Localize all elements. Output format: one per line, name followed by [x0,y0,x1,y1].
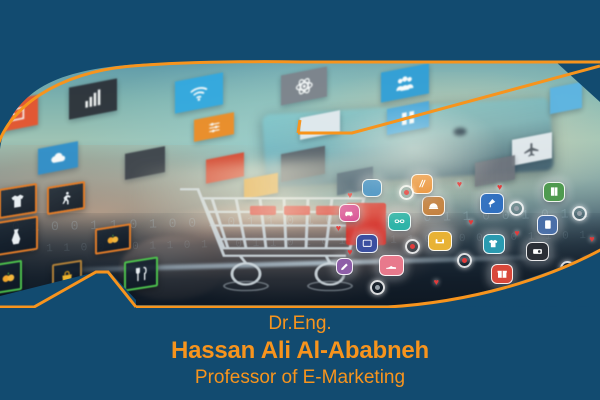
app-icon-tablet [537,215,558,235]
presenter-name: Hassan Ali Al-Ababneh [0,336,600,365]
app-icon-frame [356,234,378,253]
presenter-block: Dr.Eng. Hassan Ali Al-Ababneh Professor … [0,312,600,390]
heart-icon: ♥ [434,277,439,287]
heart-icon: ♥ [520,280,525,290]
ring-icon [572,206,587,221]
category-apparel [0,183,37,219]
category-kitchen [0,215,38,256]
app-tile-orange [194,112,234,142]
app-icon-camera [526,242,549,261]
heart-icon: ♥ [468,217,473,227]
ring-icon [560,261,575,276]
app-icon-sofa [428,231,452,251]
category-produce [0,260,22,294]
presenter-role: Professor of E-Marketing [0,365,600,390]
category-bag [52,259,82,296]
app-tile-atom [281,67,327,106]
lens-flare-2 [324,101,504,198]
ring-icon [370,280,385,295]
ring-icon [509,201,524,216]
app-tile-envelope [0,95,38,134]
page-title: Consumer behavior online [0,9,600,39]
presenter-prefix: Dr.Eng. [0,312,600,336]
heart-icon: ♥ [347,247,352,257]
app-icon-tshirt [483,234,505,254]
heart-icon: ♥ [583,255,588,265]
category-cosmetics [95,224,131,256]
category-sports [47,180,85,214]
app-tile-ltblue [550,82,582,114]
app-icon-shoe [379,255,404,276]
hero-banner: 0 1 0 0 1 1 0 1 0 0 1 0 1 1 0 1 0 0 1 0 … [0,62,600,305]
ring-icon [457,253,472,268]
app-tile-bars [69,78,117,119]
app-tile-wifi [175,72,223,113]
app-tile-group [381,64,429,103]
app-icon-pencil [336,258,353,275]
heart-icon: ♥ [514,228,519,238]
hero-photo: 0 1 0 0 1 1 0 1 0 0 1 0 1 1 0 1 0 0 1 0 … [0,62,600,305]
heart-icon: ♥ [589,234,594,244]
slide-root: Consumer behavior online 0 1 0 0 1 1 0 1… [0,0,600,400]
app-tile-plane [512,132,552,166]
app-icon-gift [491,264,513,284]
app-tile-cloud [38,141,78,175]
heart-icon: ♥ [336,223,341,233]
app-icon-book [543,182,565,202]
ring-icon [405,239,420,254]
